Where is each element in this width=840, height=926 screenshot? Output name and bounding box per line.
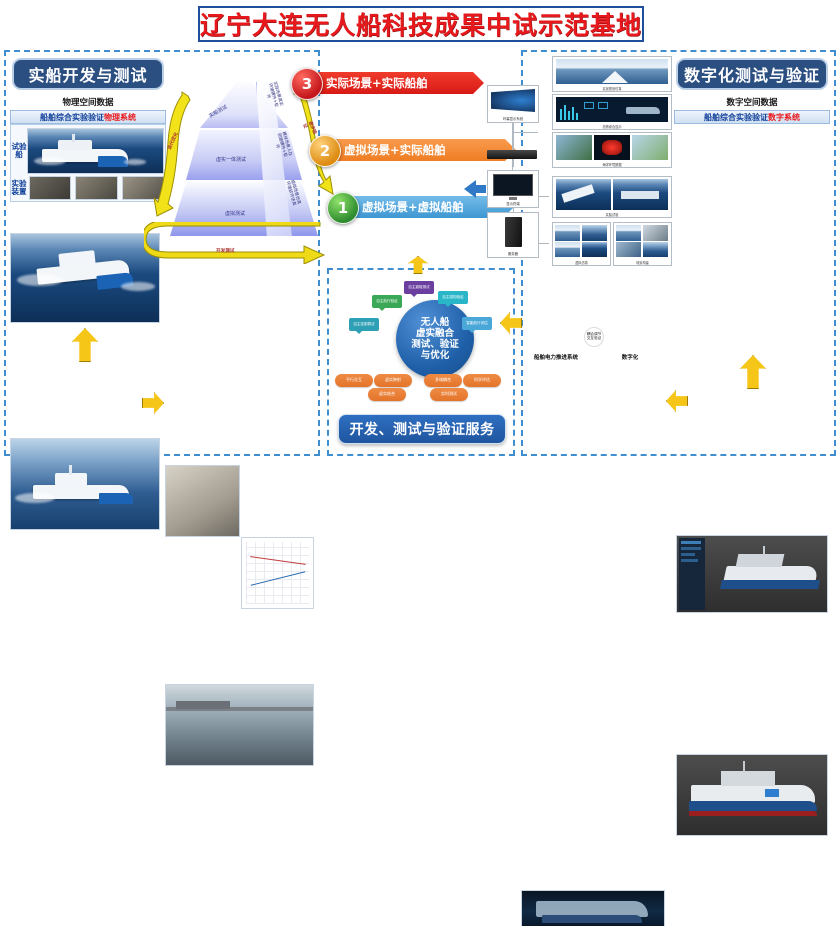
arrow-loop-bottom <box>144 222 326 264</box>
photo-lab-2 <box>75 176 117 200</box>
photo-ship-3d-model <box>676 754 828 836</box>
node-curved-display-caption: 环幕显示系统 <box>488 116 538 121</box>
hub-bubble-2[interactable]: 自主避碰测试 <box>404 281 434 294</box>
node-switch <box>487 150 537 159</box>
left-panel-card: 试验船 实验装置 <box>10 124 166 202</box>
left-system-bar: 船舶综合实验验证物理系统 <box>10 110 166 124</box>
left-row-label-0: 试验船 <box>11 127 27 175</box>
panel-virtual-sim-caption: 虚拟仿真 <box>553 260 610 265</box>
service-bar: 开发、测试与验证服务 <box>338 414 506 444</box>
right-system-bar-highlight: 数字系统 <box>768 112 800 123</box>
page-title-text: 辽宁大连无人船科技成果中试示范基地 <box>200 6 642 42</box>
hub-title: 无人船虚实融合测试、验证与优化 <box>411 317 459 362</box>
hub-pill-5[interactable]: 实时测试 <box>430 388 468 401</box>
stage-number-2[interactable]: 2 <box>309 135 341 167</box>
node-curved-display: 环幕显示系统 <box>487 85 539 123</box>
photo-ship-aerial <box>10 233 160 323</box>
stage-number-3[interactable]: 3 <box>291 68 323 100</box>
photo-data-charts <box>241 537 314 609</box>
coupling-circle: 耦合调节 交互验证 <box>584 327 604 347</box>
right-panel-header: 数字化测试与验证 <box>676 58 828 90</box>
arrow-loop-bottom-label: 开发测试 <box>216 248 234 254</box>
stage-row-3[interactable]: 实际场景+实际船舶 3 <box>300 72 484 94</box>
right-system-bar-prefix: 船舶综合实验验证 <box>704 112 768 123</box>
hub-bubble-0[interactable]: 自主控制算法 <box>349 318 379 331</box>
coupling-circle-bottom: 交互验证 <box>587 337 601 341</box>
propulsion-left-caption: 船舶电力推进系统 <box>521 353 591 361</box>
slide-canvas: 辽宁大连无人船科技成果中试示范基地 实船开发与测试 物理空间数据 船舶综合实验验… <box>0 0 840 463</box>
arrow-blue-left <box>464 178 486 200</box>
photo-lab-room <box>165 465 240 537</box>
stage-label-3: 实际场景+实际船舶 <box>326 75 428 91</box>
photo-sea-bridge <box>165 684 314 766</box>
photo-ship-sailing <box>10 438 160 530</box>
right-panel-subtitle: 数字空间数据 <box>676 96 828 108</box>
stage-number-1[interactable]: 1 <box>327 192 359 224</box>
hub-bubble-4[interactable]: 智能航行评估 <box>462 317 492 330</box>
panel-real-ship-trial: 实船试验 <box>552 176 672 218</box>
node-server: 服务器 <box>487 212 539 258</box>
left-panel-subtitle: 物理空间数据 <box>12 96 164 108</box>
left-system-bar-prefix: 船舶综合实验验证 <box>40 112 104 123</box>
panel-real-ship-trial-caption: 实船试验 <box>553 212 671 217</box>
photo-propulsion-ship <box>521 890 665 926</box>
hub-pill-1[interactable]: 虚实映射 <box>374 374 412 387</box>
pyramid-label-2: 虚实一体测试 <box>216 156 246 163</box>
right-panel-header-text: 数字化测试与验证 <box>684 62 820 86</box>
right-system-bar: 船舶综合实验验证数字系统 <box>674 110 830 124</box>
arrow-iterate-left <box>154 90 194 220</box>
panel-ocean-data: 海洋环境数据 <box>552 132 672 168</box>
left-panel-header: 实船开发与测试 <box>12 58 164 90</box>
photo-trial-ship <box>27 128 164 174</box>
left-row-label-1: 实验装置 <box>11 175 27 201</box>
pyramid-label-1: 虚拟测试 <box>225 210 245 217</box>
hub-pill-3[interactable]: 多域耦合 <box>424 374 462 387</box>
panel-situation-display: 态势综合显示 <box>552 94 672 130</box>
photo-lab-1 <box>29 176 71 200</box>
node-display-terminal: 显示终端 <box>487 170 539 208</box>
hub-pill-0[interactable]: 平行交互 <box>335 374 373 387</box>
panel-scene-sim-caption: 实景视景仿真 <box>553 86 671 91</box>
hub-pill-2[interactable]: 虚实结合 <box>368 388 406 401</box>
panel-ocean-data-caption: 海洋环境数据 <box>553 162 671 167</box>
page-title: 辽宁大连无人船科技成果中试示范基地 <box>198 6 644 42</box>
stage-bar-3[interactable]: 实际场景+实际船舶 <box>300 72 484 94</box>
hub-circle: 无人船虚实融合测试、验证与优化 <box>396 300 474 378</box>
propulsion-right-caption: 数字化 <box>595 353 665 361</box>
left-system-bar-highlight: 物理系统 <box>104 112 136 123</box>
panel-scene-sim: 实景视景仿真 <box>552 56 672 92</box>
stage-label-2: 虚拟场景+实际船舶 <box>344 142 446 158</box>
panel-virtual-sim: 虚拟仿真 <box>552 222 611 266</box>
left-panel-header-text: 实船开发与测试 <box>28 62 147 86</box>
hub-bubble-3[interactable]: 自主感知验证 <box>438 291 468 304</box>
node-display-terminal-caption: 显示终端 <box>488 201 538 206</box>
panel-scene-build: 场景构建 <box>613 222 672 266</box>
photo-digital-twin-ui <box>676 535 828 613</box>
node-server-caption: 服务器 <box>488 251 538 256</box>
hub-pill-4[interactable]: 科学评估 <box>463 374 501 387</box>
stage-label-1: 虚拟场景+虚拟船舶 <box>362 199 464 215</box>
hub-bubble-1[interactable]: 自主航行验证 <box>372 295 402 308</box>
service-bar-text: 开发、测试与验证服务 <box>350 419 495 439</box>
panel-scene-build-caption: 场景构建 <box>614 260 671 265</box>
panel-situation-display-caption: 态势综合显示 <box>553 124 671 129</box>
